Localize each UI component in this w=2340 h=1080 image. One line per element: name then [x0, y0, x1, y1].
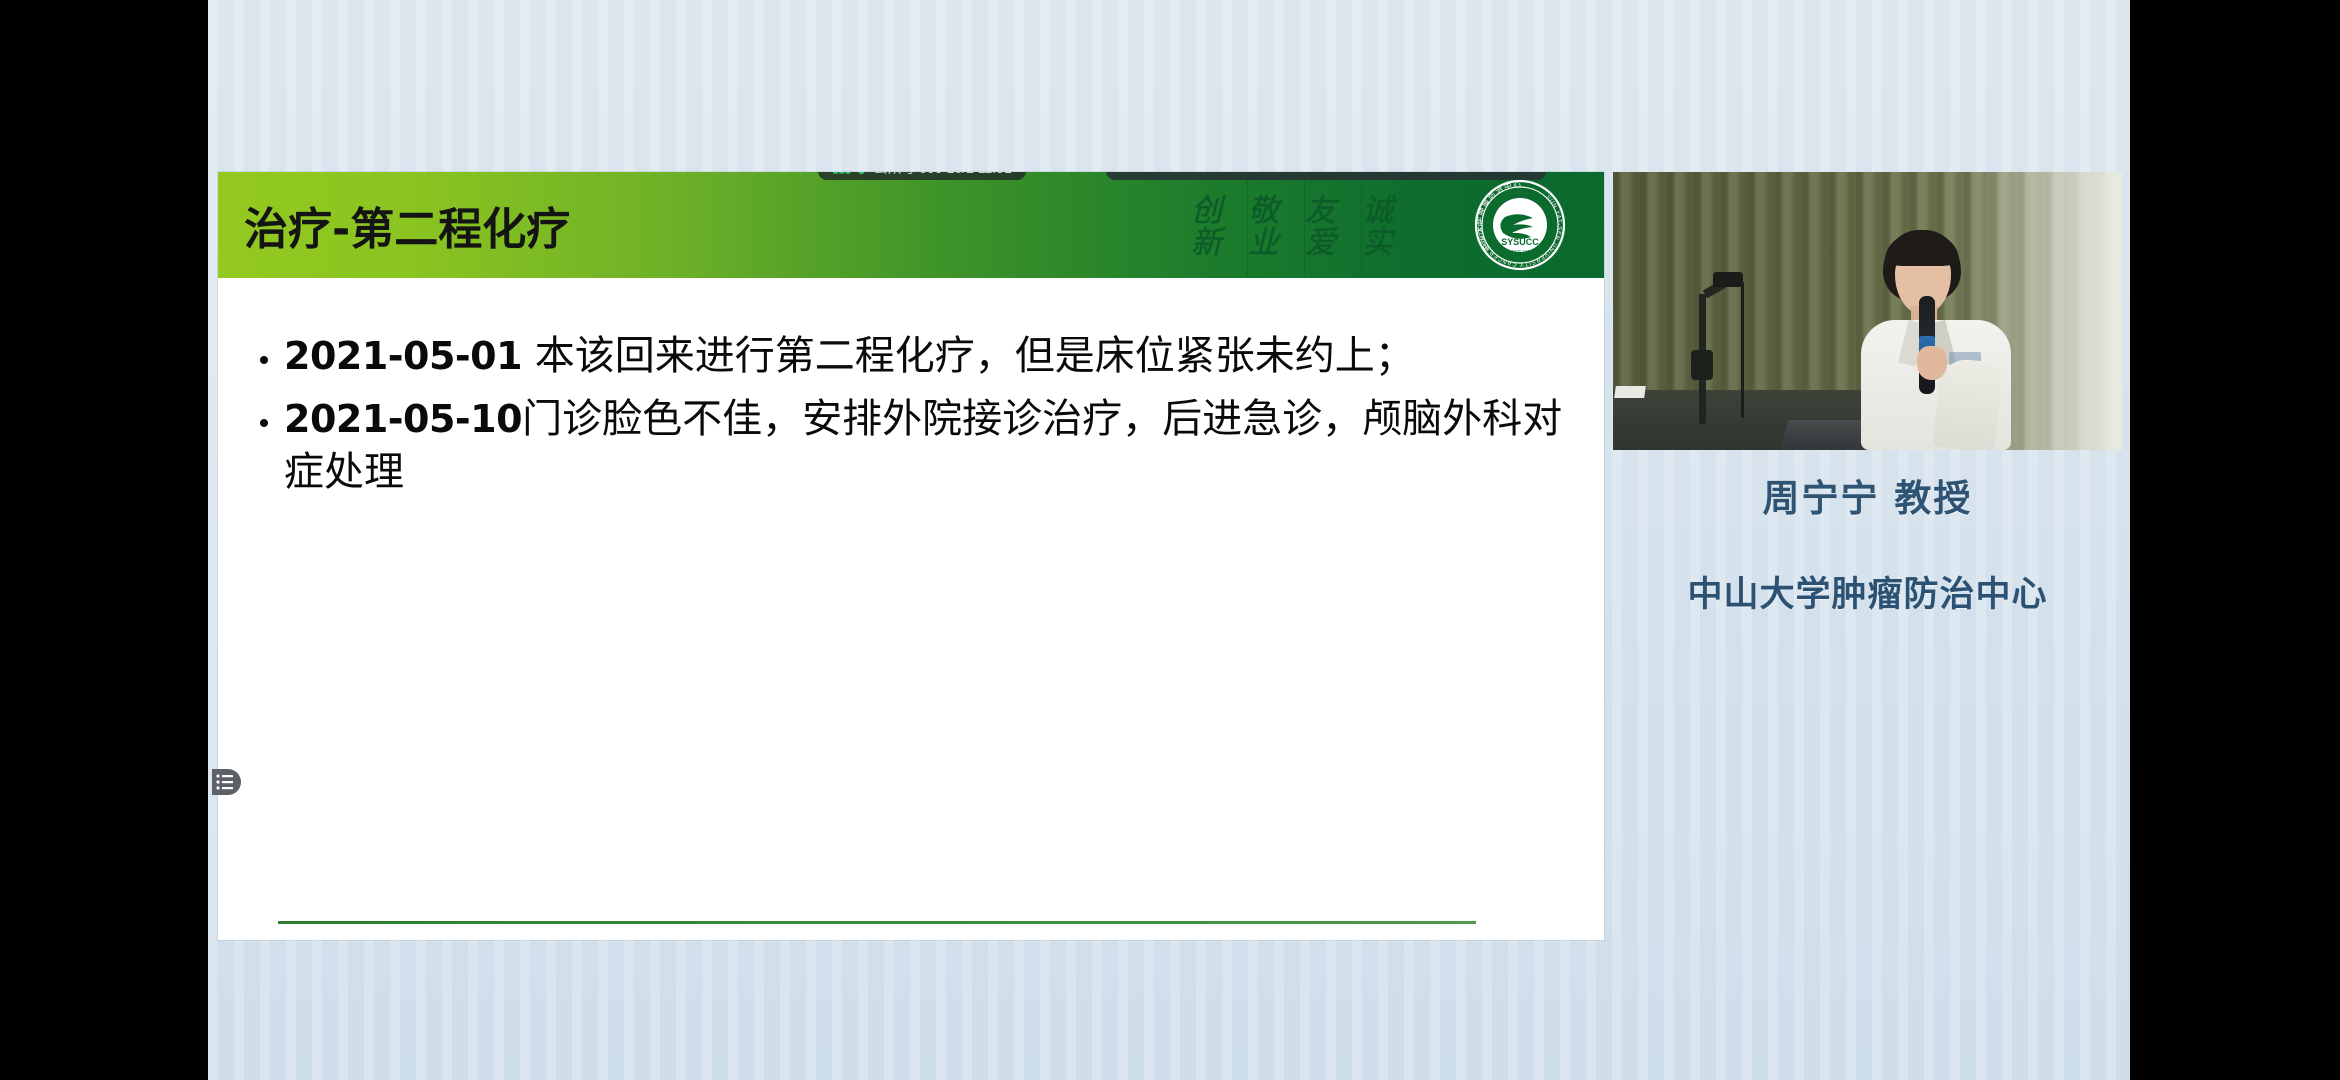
motto-column: 敬业 [1247, 180, 1304, 276]
speaker-fringe [1885, 232, 1959, 266]
bullet-item: 2021-05-01 本该回来进行第二程化疗，但是床位紧张未约上； [252, 330, 1570, 383]
live-dot-icon [858, 172, 865, 174]
motto-char: 创新 [1191, 196, 1247, 259]
tripod-head [1691, 350, 1713, 380]
stream-overlay-chip: ▮▮▮ 公众号 999 16/2 11:51 [818, 172, 1026, 180]
slide-bottom-rule [278, 921, 1476, 924]
bullet-text: 本该回来进行第二程化疗，但是床位紧张未约上； [522, 333, 1415, 379]
motto-char: 敬业 [1248, 196, 1304, 259]
speaker-hand [1917, 346, 1947, 380]
bullet-list: 2021-05-01 本该回来进行第二程化疗，但是床位紧张未约上； 2021-0… [252, 330, 1570, 500]
motto-char: 友爱 [1305, 196, 1361, 259]
slide-body: 2021-05-01 本该回来进行第二程化疗，但是床位紧张未约上； 2021-0… [218, 278, 1604, 940]
speaker-video[interactable] [1613, 172, 2122, 450]
signal-bars-icon: ▮▮▮ [832, 172, 850, 176]
stream-overlay-text: 公众号 999 16/2 11:51 [873, 172, 1011, 178]
sysucc-logo: SYSUCC SINCE 1964 中山大学肿瘤防治中心 SUN YAT-SEN… [1474, 179, 1566, 271]
outline-view-icon[interactable] [208, 764, 244, 800]
bullet-date: 2021-05-01 [284, 334, 522, 378]
speaker-name: 周宁宁 教授 [1613, 468, 2122, 522]
speaker-caption: 周宁宁 教授 中山大学肿瘤防治中心 [1613, 468, 2122, 617]
bullet-item: 2021-05-10门诊脸色不佳，安排外院接诊治疗，后进急诊，颅脑外科对症处理 [252, 393, 1570, 499]
logo-abbr: SYSUCC [1501, 237, 1539, 247]
camera-cable [1741, 282, 1744, 418]
motto-column: 诚实 [1361, 180, 1418, 276]
papers [1614, 386, 1646, 398]
broadcast-stage: 治疗-第二程化疗 ▮▮▮ 公众号 999 16/2 11:51 创新 敬业 友爱 [0, 0, 2340, 1080]
motto-char: 诚实 [1362, 196, 1418, 259]
motto-column: 友爱 [1304, 180, 1361, 276]
slide-card: 治疗-第二程化疗 ▮▮▮ 公众号 999 16/2 11:51 创新 敬业 友爱 [218, 172, 1604, 940]
slide-title: 治疗-第二程化疗 [244, 193, 570, 257]
camera [1713, 272, 1743, 287]
slide-header: 治疗-第二程化疗 ▮▮▮ 公众号 999 16/2 11:51 创新 敬业 友爱 [218, 172, 1604, 278]
logo-since: SINCE 1964 [1507, 249, 1533, 254]
bullet-date: 2021-05-10 [284, 397, 522, 441]
speaker-organization: 中山大学肿瘤防治中心 [1613, 566, 2122, 617]
motto-block: 创新 敬业 友爱 诚实 [1191, 178, 1418, 278]
motto-column: 创新 [1191, 180, 1247, 276]
letterbox-right [2130, 0, 2340, 1080]
letterbox-left [0, 0, 208, 1080]
speaker-figure [1845, 220, 2045, 450]
